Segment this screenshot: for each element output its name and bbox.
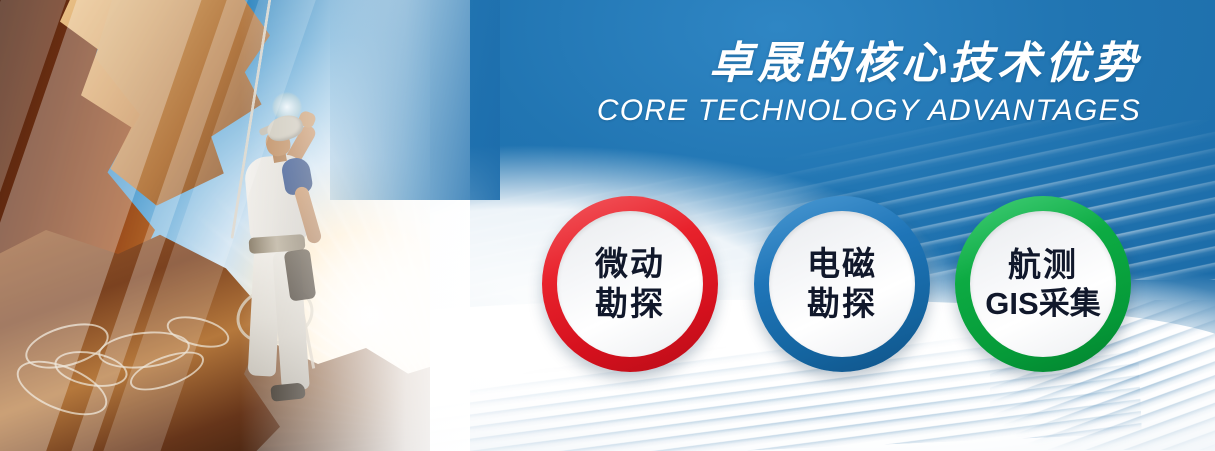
- core-technology-banner: 卓晟的核心技术优势 CORE TECHNOLOGY ADVANTAGES 微动 …: [0, 0, 1215, 451]
- badge-hangce-gis-caiji[interactable]: 航测 GIS采集: [955, 196, 1131, 372]
- badge-inner-disc: 电磁 勘探: [769, 211, 915, 357]
- badge-label-line1: 电磁: [807, 245, 877, 283]
- climber-figure: [215, 112, 345, 412]
- banner-heading-group: 卓晟的核心技术优势 CORE TECHNOLOGY ADVANTAGES: [597, 40, 1141, 128]
- badge-label-line1: 微动: [595, 245, 665, 283]
- badge-inner-disc: 微动 勘探: [557, 211, 703, 357]
- badge-dianci-kantan[interactable]: 电磁 勘探: [754, 196, 930, 372]
- badge-inner-disc: 航测 GIS采集: [970, 211, 1116, 357]
- page-title: 卓晟的核心技术优势: [597, 40, 1141, 88]
- badge-label-line2: GIS采集: [985, 286, 1100, 322]
- badge-label-line1: 航测: [1008, 246, 1078, 284]
- badge-label-line2: 勘探: [807, 285, 877, 323]
- climber-boot: [270, 382, 305, 401]
- page-subtitle: CORE TECHNOLOGY ADVANTAGES: [597, 94, 1141, 128]
- badge-label-line2: 勘探: [595, 285, 665, 323]
- technology-badge-group: 微动 勘探 电磁 勘探 航测 GIS采集: [540, 196, 1140, 376]
- climber-photo: [0, 0, 430, 451]
- badge-weidong-kantan[interactable]: 微动 勘探: [542, 196, 718, 372]
- climber-gear-rack: [284, 248, 317, 301]
